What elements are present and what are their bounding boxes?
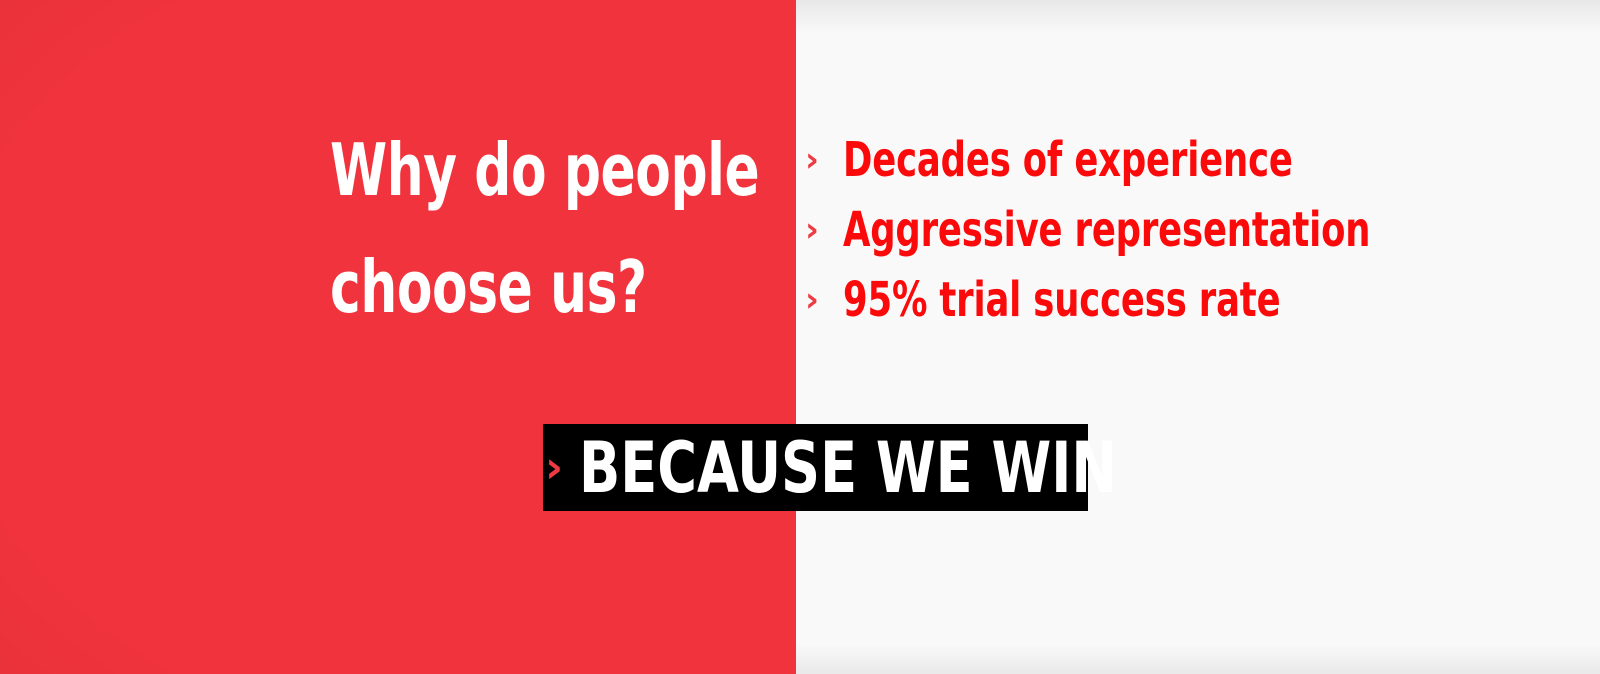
page-title: Why do people choose us? xyxy=(330,112,674,345)
list-item: › 95% trial success rate xyxy=(805,265,1486,335)
headline-line-2: choose us? xyxy=(330,229,674,346)
headline-line-1: Why do people xyxy=(330,112,674,229)
slide-root: Why do people choose us? › Decades of ex… xyxy=(0,0,1600,674)
benefits-list: › Decades of experience › Aggressive rep… xyxy=(805,125,1486,335)
chevron-right-icon: › xyxy=(805,283,843,317)
list-item-label: Decades of experience xyxy=(843,136,1293,184)
chevron-right-icon: › xyxy=(805,213,843,247)
chevron-right-icon: › xyxy=(545,446,579,490)
list-item: › Aggressive representation xyxy=(805,195,1486,265)
chevron-right-icon: › xyxy=(805,143,843,177)
list-item-label: Aggressive representation xyxy=(843,206,1370,254)
banner-label: BECAUSE WE WIN xyxy=(579,433,1117,503)
list-item: › Decades of experience xyxy=(805,125,1486,195)
right-white-panel xyxy=(796,0,1600,674)
list-item-label: 95% trial success rate xyxy=(843,276,1280,324)
because-we-win-banner: › BECAUSE WE WIN xyxy=(543,424,1088,511)
